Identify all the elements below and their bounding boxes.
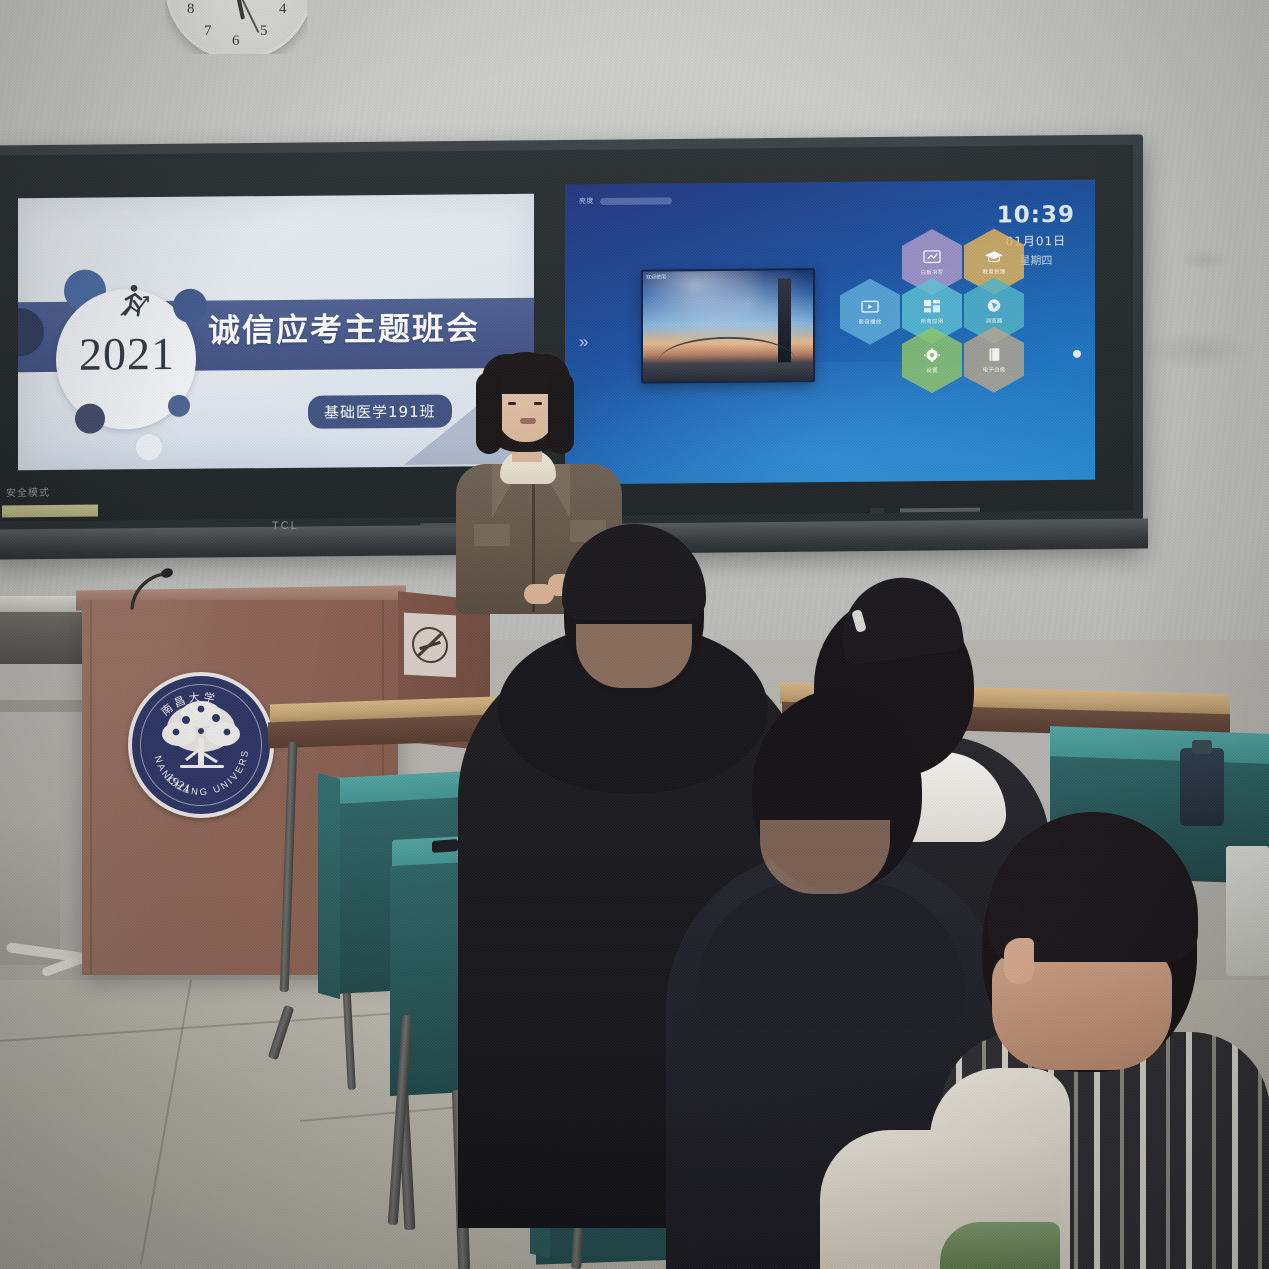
wall-clock: 8 7 6 5 4 i mac [165, 0, 307, 54]
chevron-right-icon[interactable]: » [579, 332, 588, 352]
hex-tile-media[interactable]: 影音播放 [840, 278, 900, 345]
classroom-scene: 8 7 6 5 4 i mac 安全模式 [0, 0, 1269, 1269]
student-far-right [820, 1130, 1060, 1269]
brightness-label: 亮度 [579, 196, 594, 206]
board-sticker [2, 504, 98, 517]
app-hex-grid: 白板书写 教育资源 影音播放 所有应用 [840, 228, 1025, 385]
student-bag [940, 1222, 1060, 1269]
prohibition-slash [416, 631, 443, 657]
podium-seam [90, 600, 92, 975]
wall-mark [1180, 250, 1230, 270]
clock-face: 8 7 6 5 4 i mac [165, 0, 307, 54]
page-indicator-dot[interactable] [1073, 350, 1081, 358]
slide-dot [173, 289, 207, 323]
clock-numeral: 5 [260, 23, 268, 40]
no-smoking-sign [404, 613, 456, 678]
book-icon [983, 345, 1005, 363]
clock-numeral: 6 [232, 33, 240, 50]
no-smoking-icon [412, 626, 448, 664]
smartphone [432, 839, 458, 853]
slide-year: 2021 [72, 327, 182, 381]
bezel-buttons [900, 508, 980, 513]
water-bottle [1180, 748, 1224, 826]
hex-tile-ebook[interactable]: 电子白板 [964, 326, 1024, 393]
bezel-port [870, 508, 884, 514]
slide-title: 诚信应考主题班会 [208, 303, 480, 351]
slide-dot [75, 403, 105, 433]
wallpaper-thumbnail[interactable]: 欢迎使用 [641, 268, 815, 384]
whiteboard-icon [921, 248, 943, 266]
clock-numeral: 7 [204, 23, 212, 40]
bottle-cap [1192, 740, 1212, 754]
seal-ring [140, 684, 262, 806]
apps-grid-icon [921, 297, 943, 315]
panel-time: 10:39 [997, 202, 1075, 229]
hex-label: 所有应用 [921, 317, 944, 325]
slide-dot [168, 395, 190, 417]
hex-label: 教育资源 [983, 267, 1006, 275]
thumbnail-caption: 欢迎使用 [646, 274, 666, 281]
hex-label: 电子白板 [983, 365, 1006, 373]
presenter-side-hair [548, 372, 574, 454]
slide-class-badge: 基础医学191班 [308, 394, 452, 428]
gear-icon [921, 346, 943, 364]
thumbnail-water [643, 362, 813, 381]
hex-label: 白板书写 [921, 268, 944, 276]
student-ear [1004, 938, 1034, 984]
hex-label: 影音播放 [859, 318, 882, 326]
hex-label: 设置 [926, 366, 937, 374]
hex-label: 浏览器 [985, 316, 1002, 324]
presenter-eye [534, 402, 542, 405]
presenter-mouth [520, 418, 536, 424]
brightness-slider[interactable]: 亮度 [579, 195, 672, 206]
smartboard-home-screen[interactable]: 亮度 » 欢迎使用 10:39 01月01日 星期四 白板书 [565, 180, 1095, 485]
safe-mode-label: 安全模式 [6, 484, 50, 499]
play-icon [859, 298, 881, 316]
clock-numeral: 4 [279, 1, 287, 18]
presenter-side-hair [476, 372, 502, 454]
globe-icon [983, 296, 1005, 314]
university-seal: 1921 NANCHANG UNIVERSITY 南昌大学 [128, 672, 274, 818]
hex-tile-settings[interactable]: 设置 [902, 327, 962, 394]
presenter-eye [508, 402, 516, 405]
desk-teal-side [318, 773, 340, 999]
graduation-cap-icon [983, 247, 1005, 265]
slide-dot [134, 432, 164, 462]
slider-track[interactable] [600, 197, 672, 205]
wall-mark [1140, 330, 1260, 370]
smartboard-brand: TCL [272, 520, 299, 532]
gooseneck-microphone-icon [128, 566, 174, 610]
student-hair [562, 524, 706, 620]
runner-chart-icon [113, 281, 155, 323]
clock-numeral: 8 [187, 1, 195, 18]
